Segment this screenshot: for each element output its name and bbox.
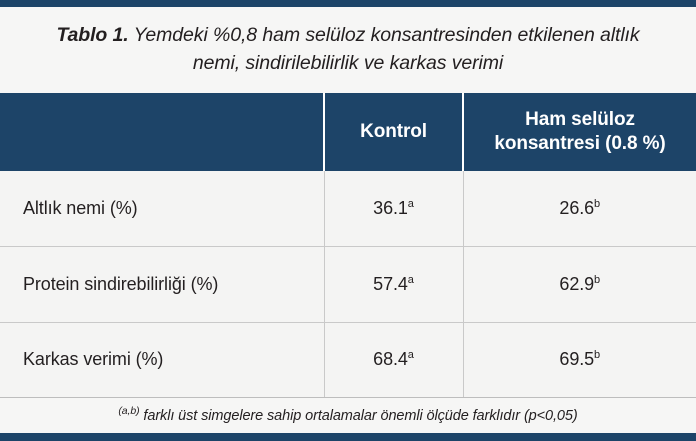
header-cell-treatment: Ham selülozkonsantresi (0.8 %) <box>463 93 696 171</box>
cell-superscript: b <box>594 198 600 210</box>
bottom-accent-rule <box>0 433 696 441</box>
table-row: Altlık nemi (%) 36.1a 26.6b <box>0 171 696 247</box>
cell-kontrol: 36.1a <box>324 171 463 247</box>
cell-value: 69.5 <box>559 349 594 369</box>
data-table: Kontrol Ham selülozkonsantresi (0.8 %) A… <box>0 93 696 398</box>
top-accent-rule <box>0 0 696 7</box>
table-row: Karkas verimi (%) 68.4a 69.5b <box>0 322 696 398</box>
header-treatment-line1: Ham selüloz <box>525 109 635 130</box>
caption-text: Tablo 1. Yemdeki %0,8 ham selüloz konsan… <box>34 22 662 77</box>
cell-superscript: b <box>594 349 600 361</box>
header-row: Kontrol Ham selülozkonsantresi (0.8 %) <box>0 93 696 171</box>
cell-kontrol: 68.4a <box>324 322 463 398</box>
caption-body: Yemdeki %0,8 ham selüloz konsantresinden… <box>129 24 640 74</box>
cell-value: 57.4 <box>373 274 408 294</box>
row-label: Altlık nemi (%) <box>0 171 324 247</box>
row-label: Karkas verimi (%) <box>0 322 324 398</box>
cell-superscript: a <box>408 274 414 286</box>
cell-superscript: a <box>408 198 414 210</box>
cell-treatment: 62.9b <box>463 247 696 323</box>
cell-kontrol: 57.4a <box>324 247 463 323</box>
table-row: Protein sindirebilirliği (%) 57.4a 62.9b <box>0 247 696 323</box>
table-caption: Tablo 1. Yemdeki %0,8 ham selüloz konsan… <box>0 7 696 93</box>
footnote-text: (a,b) farklı üst simgelere sahip ortalam… <box>118 408 577 424</box>
table-figure: Tablo 1. Yemdeki %0,8 ham selüloz konsan… <box>0 0 696 441</box>
header-treatment-line2: konsantresi (0.8 %) <box>494 133 665 154</box>
footnote-marker: (a,b) <box>118 405 139 417</box>
cell-value: 68.4 <box>373 349 408 369</box>
row-label: Protein sindirebilirliği (%) <box>0 247 324 323</box>
header-cell-blank <box>0 93 324 171</box>
cell-superscript: a <box>408 349 414 361</box>
footnote-body: farklı üst simgelere sahip ortalamalar ö… <box>140 408 578 424</box>
cell-value: 62.9 <box>559 274 594 294</box>
cell-treatment: 26.6b <box>463 171 696 247</box>
table-footnote: (a,b) farklı üst simgelere sahip ortalam… <box>0 398 696 433</box>
header-cell-kontrol: Kontrol <box>324 93 463 171</box>
caption-label: Tablo 1. <box>56 24 128 46</box>
table-header: Kontrol Ham selülozkonsantresi (0.8 %) <box>0 93 696 171</box>
cell-superscript: b <box>594 274 600 286</box>
table-body: Altlık nemi (%) 36.1a 26.6b Protein sind… <box>0 171 696 398</box>
cell-value: 26.6 <box>559 198 594 218</box>
cell-value: 36.1 <box>373 198 408 218</box>
cell-treatment: 69.5b <box>463 322 696 398</box>
